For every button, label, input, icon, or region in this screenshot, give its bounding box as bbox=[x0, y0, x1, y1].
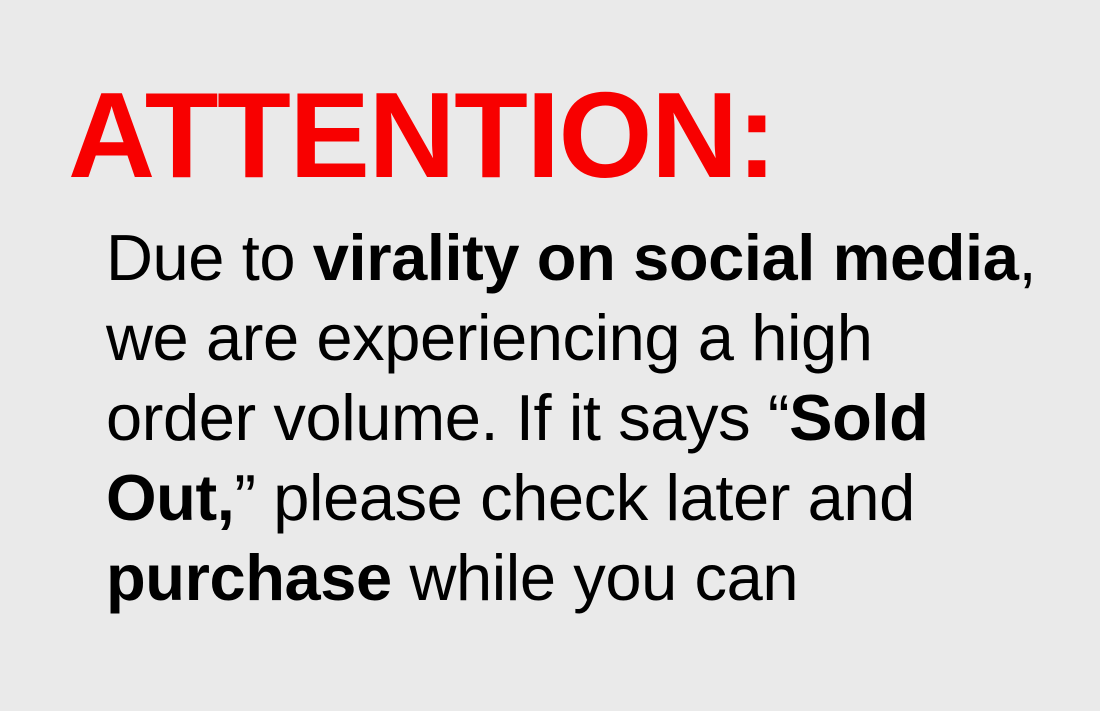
message-line-4: Out,” please check later and bbox=[106, 458, 1066, 538]
message-line-3-emphasis: Sold bbox=[789, 381, 928, 454]
message-line-2: we are experiencing a high bbox=[106, 298, 1066, 378]
message-line-1-suffix: , bbox=[1018, 221, 1036, 294]
message-line-5-emphasis: purchase bbox=[106, 541, 392, 614]
message-line-2-text: we are experiencing a high bbox=[106, 301, 873, 374]
message-line-5: purchase while you can bbox=[106, 538, 1066, 618]
message-line-3: order volume. If it says “Sold bbox=[106, 378, 1066, 458]
attention-banner: ATTENTION: Due to virality on social med… bbox=[0, 0, 1100, 711]
message-line-1-emphasis: virality on social media bbox=[313, 221, 1019, 294]
announcement-message: Due to virality on social media, we are … bbox=[106, 218, 1066, 618]
message-line-1-prefix: Due to bbox=[106, 221, 313, 294]
message-line-5-suffix: while you can bbox=[392, 541, 798, 614]
headline-attention: ATTENTION: bbox=[68, 74, 775, 196]
message-line-4-suffix: ” please check later and bbox=[234, 461, 915, 534]
message-line-4-emphasis: Out, bbox=[106, 461, 234, 534]
message-line-3-prefix: order volume. If it says “ bbox=[106, 381, 789, 454]
message-line-1: Due to virality on social media, bbox=[106, 218, 1066, 298]
